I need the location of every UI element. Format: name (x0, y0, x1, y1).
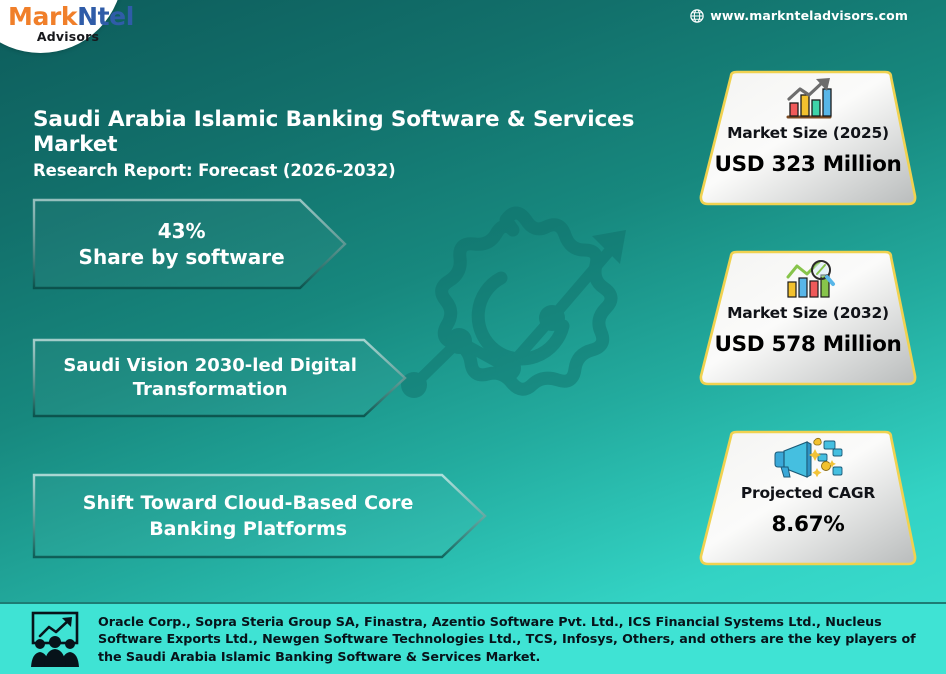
metric-2-value: USD 578 Million (714, 332, 901, 357)
website-url-text: www.marknteladvisors.com (710, 8, 908, 23)
megaphone-marketing-icon (771, 436, 845, 480)
bar-chart-growth-arrow-icon (780, 76, 836, 120)
report-subtitle: Research Report: Forecast (2026-2032) (33, 161, 693, 180)
report-title: Saudi Arabia Islamic Banking Software & … (33, 108, 693, 158)
metric-1-label: Market Size (2025) (727, 124, 889, 142)
highlight-2-line2: Transformation (63, 378, 357, 402)
highlight-1-text: 43% Share by software (79, 218, 301, 271)
metric-3-value: 8.67% (771, 512, 844, 537)
highlight-2-text: Saudi Vision 2030-led Digital Transforma… (63, 354, 375, 402)
page-title: Saudi Arabia Islamic Banking Software & … (33, 108, 693, 180)
highlight-arrow-1: 43% Share by software (32, 198, 347, 290)
metric-card-market-size-2025: Market Size (2025) USD 323 Million (694, 68, 922, 208)
bar-chart-magnifier-icon (780, 256, 836, 300)
highlight-1-line1: 43% (79, 218, 285, 244)
highlight-3-line2: Banking Platforms (83, 516, 414, 542)
footer-bar: Oracle Corp., Sopra Steria Group SA, Fin… (0, 602, 946, 674)
metric-card-projected-cagr: Projected CAGR 8.67% (694, 428, 922, 568)
highlight-2-line1: Saudi Vision 2030-led Digital (63, 354, 357, 378)
website-url[interactable]: www.marknteladvisors.com (690, 8, 908, 23)
globe-icon (690, 9, 704, 23)
infographic-canvas: MarkNtel Advisors www.marknteladvisors.c… (0, 0, 946, 674)
gear-growth-chart-icon (386, 200, 706, 440)
highlight-arrow-3: Shift Toward Cloud-Based Core Banking Pl… (32, 473, 487, 559)
highlight-3-line1: Shift Toward Cloud-Based Core (83, 490, 414, 516)
highlight-arrow-2: Saudi Vision 2030-led Digital Transforma… (32, 338, 407, 418)
footer-key-players-text: Oracle Corp., Sopra Steria Group SA, Fin… (98, 613, 932, 666)
presentation-team-icon (26, 611, 84, 667)
highlight-1-line2: Share by software (79, 244, 285, 270)
logo-word-mark: Mark (8, 2, 77, 31)
logo[interactable]: MarkNtel Advisors (8, 4, 128, 52)
logo-word-ntel: Ntel (77, 2, 134, 31)
metric-3-label: Projected CAGR (741, 484, 875, 502)
metric-card-market-size-2032: Market Size (2032) USD 578 Million (694, 248, 922, 388)
logo-wordmark: MarkNtel (8, 4, 128, 29)
logo-subtitle: Advisors (8, 31, 128, 44)
metric-1-value: USD 323 Million (714, 152, 901, 177)
metric-2-label: Market Size (2032) (727, 304, 889, 322)
highlight-3-text: Shift Toward Cloud-Based Core Banking Pl… (83, 490, 436, 542)
